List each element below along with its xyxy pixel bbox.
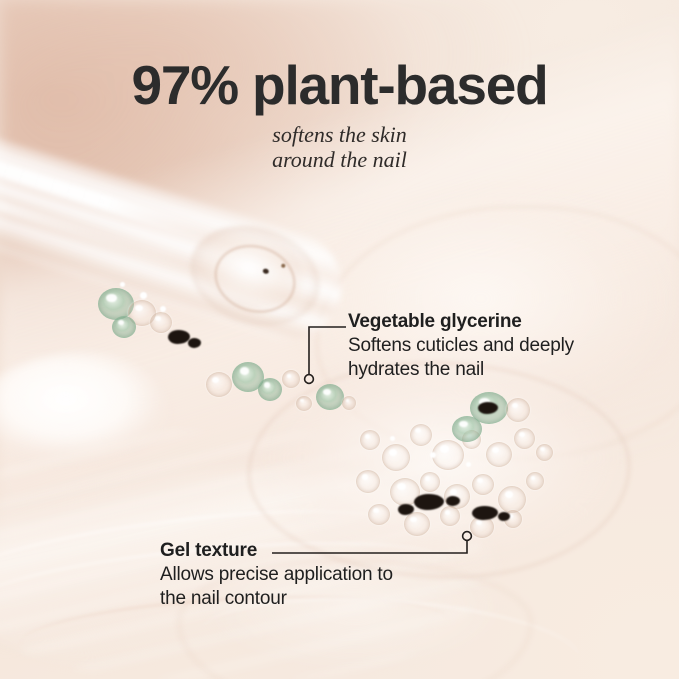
- sparkle: [120, 282, 125, 287]
- sparkle: [160, 306, 166, 312]
- sparkle: [140, 292, 147, 299]
- subtitle-line-2: around the nail: [0, 147, 679, 172]
- sparkle: [430, 452, 436, 458]
- subtitle-line-1: softens the skin: [0, 122, 679, 147]
- bubble-clear: [342, 396, 356, 410]
- callout-gel-texture: Gel texture Allows precise application t…: [160, 538, 490, 611]
- bubble-clear: [150, 312, 172, 333]
- bubble-clear: [486, 442, 512, 467]
- bubble-clear: [368, 504, 390, 525]
- bubble-clear: [382, 444, 410, 471]
- bubble-clear: [410, 424, 432, 446]
- bubble-clear: [472, 474, 494, 495]
- bubble-clear: [506, 398, 530, 422]
- sparkle: [466, 462, 471, 467]
- product-feature-image: 97% plant-based softens the skin around …: [0, 0, 679, 679]
- bubble-clear: [440, 506, 460, 526]
- bubble-clear: [514, 428, 535, 449]
- bubble-green: [258, 378, 282, 401]
- callout-title: Gel texture: [160, 538, 490, 563]
- dark-particle: [188, 338, 201, 348]
- bubble-clear: [536, 444, 553, 461]
- bubble-clear: [526, 472, 544, 490]
- subtitle: softens the skin around the nail: [0, 122, 679, 172]
- bubble-green: [112, 316, 136, 338]
- bubble-clear: [498, 486, 526, 513]
- callout-body-line-1: Allows precise application to: [160, 563, 490, 587]
- callout-body-line-2: hydrates the nail: [348, 358, 638, 382]
- bubble-clear: [282, 370, 300, 388]
- white-cream-blob: [0, 352, 170, 470]
- page-title: 97% plant-based: [0, 53, 679, 117]
- bubble-clear: [432, 440, 464, 470]
- bubble-clear: [420, 472, 440, 492]
- bubble-clear: [360, 430, 380, 450]
- callout-vegetable-glycerine: Vegetable glycerine Softens cuticles and…: [348, 309, 638, 382]
- sparkle: [390, 436, 395, 441]
- bubble-clear: [296, 396, 312, 411]
- bubble-clear: [206, 372, 232, 397]
- bubble-green: [452, 416, 482, 442]
- dark-particle: [168, 330, 190, 344]
- callout-body-line-1: Softens cuticles and deeply: [348, 334, 638, 358]
- callout-body-line-2: the nail contour: [160, 587, 490, 611]
- callout-title: Vegetable glycerine: [348, 309, 638, 334]
- bubble-clear: [356, 470, 380, 493]
